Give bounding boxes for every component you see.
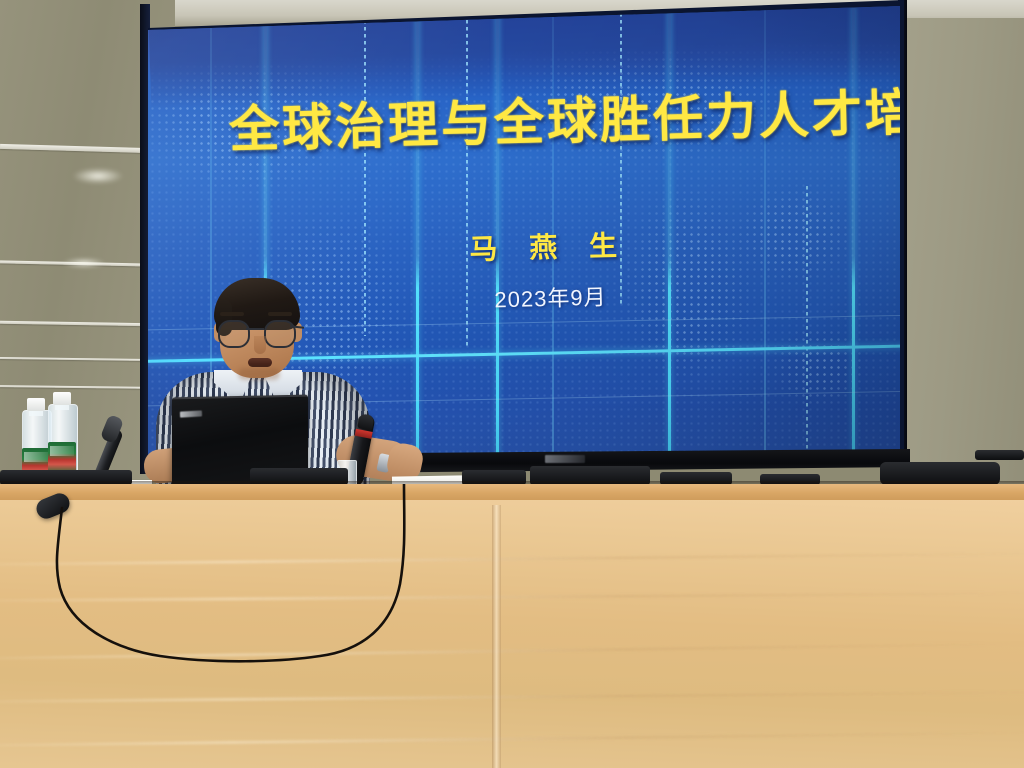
lens (264, 320, 296, 348)
screen-brand-logo (545, 455, 585, 463)
wood-grain (0, 592, 1024, 602)
wall-light-reflection (62, 258, 106, 268)
desk-equipment (975, 450, 1024, 460)
nose (254, 336, 266, 354)
photo-scene: 全球治理与全球胜任力人才培养 马 燕 生 2023年9月 (0, 0, 1024, 768)
thinkpad-logo (180, 410, 202, 417)
wood-grain (0, 552, 1024, 566)
wood-grain (0, 731, 1024, 747)
wall-light-reflection (72, 168, 124, 184)
wood-grain (0, 642, 1024, 660)
bottle-cap (27, 398, 45, 411)
desk-panel-seam (492, 505, 501, 768)
wood-grain (0, 691, 1024, 703)
slide-date: 2023年9月 (385, 277, 716, 317)
desk-front-panel (0, 500, 1024, 768)
eyebrow (220, 312, 244, 316)
bottle-cap (53, 392, 71, 405)
lens (218, 320, 250, 348)
glasses-bridge (246, 328, 264, 330)
slide-presenter-name: 马 燕 生 (384, 222, 715, 270)
eyebrow (268, 312, 292, 316)
slide-title: 全球治理与全球胜任力人才培养 (228, 74, 870, 162)
mouth (248, 358, 272, 367)
chin-shadow (238, 368, 280, 380)
